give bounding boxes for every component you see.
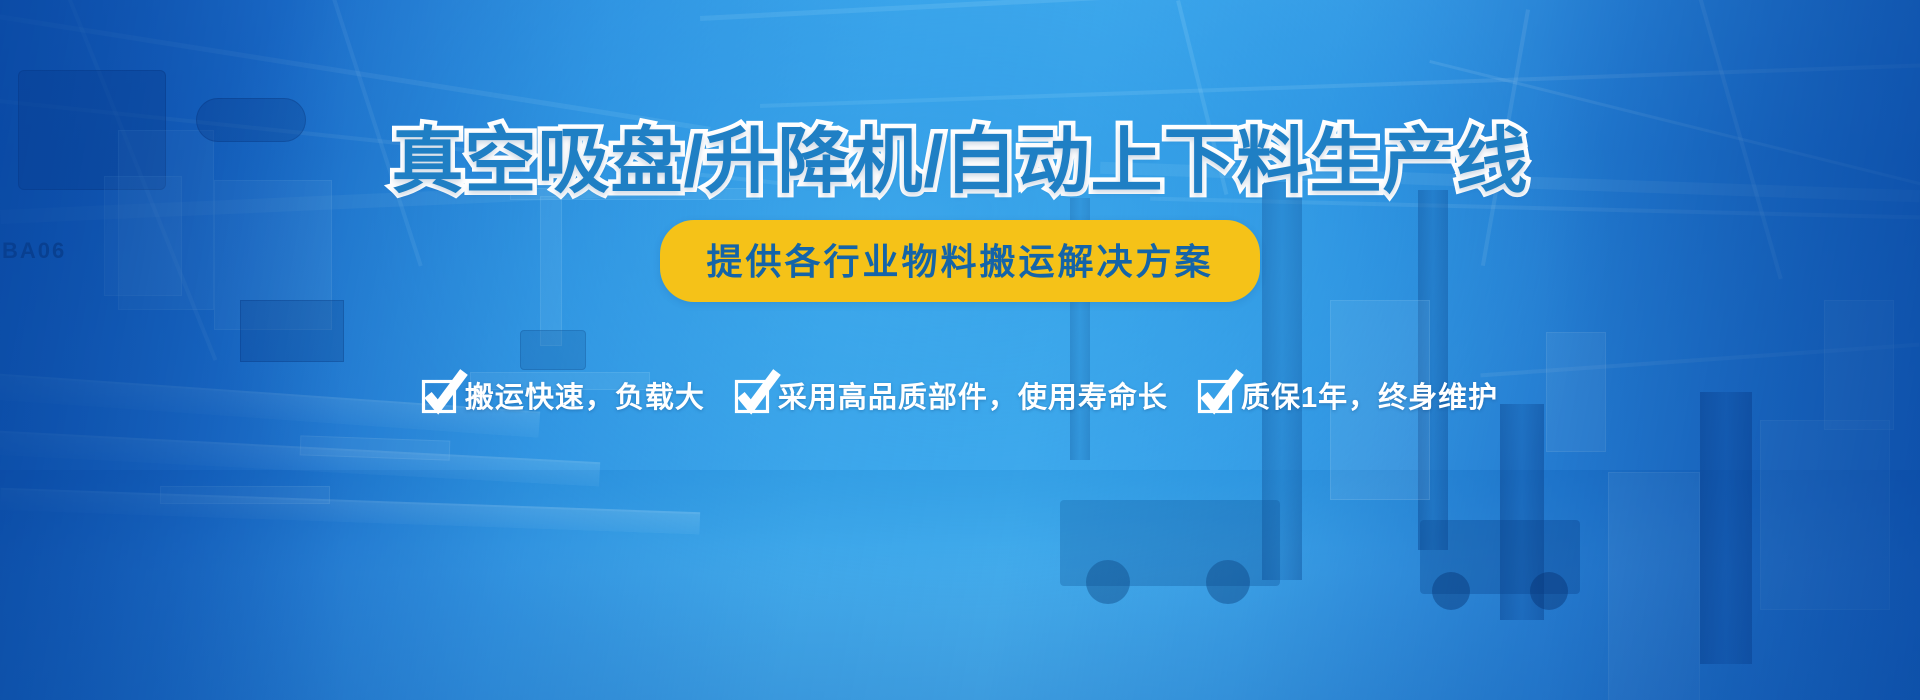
checkbox-checked-icon bbox=[735, 378, 769, 412]
feature-item: 质保1年，终身维护 bbox=[1198, 374, 1498, 416]
banner-headline: 真空吸盘/升降机/自动上下料生产线 bbox=[391, 126, 1528, 198]
promo-banner: BA06 真空吸盘 bbox=[0, 0, 1920, 700]
banner-content: 真空吸盘/升降机/自动上下料生产线 提供各行业物料搬运解决方案 搬运快速，负载大 bbox=[0, 0, 1920, 700]
feature-item: 搬运快速，负载大 bbox=[422, 374, 705, 416]
feature-item: 采用高品质部件，使用寿命长 bbox=[735, 374, 1168, 416]
feature-label: 采用高品质部件，使用寿命长 bbox=[778, 374, 1168, 416]
checkbox-checked-icon bbox=[422, 378, 456, 412]
checkbox-checked-icon bbox=[1198, 378, 1232, 412]
feature-label: 质保1年，终身维护 bbox=[1241, 374, 1498, 416]
feature-list: 搬运快速，负载大 采用高品质部件，使用寿命长 bbox=[422, 374, 1498, 416]
feature-label: 搬运快速，负载大 bbox=[465, 374, 705, 416]
banner-subheadline-pill: 提供各行业物料搬运解决方案 bbox=[660, 220, 1259, 302]
